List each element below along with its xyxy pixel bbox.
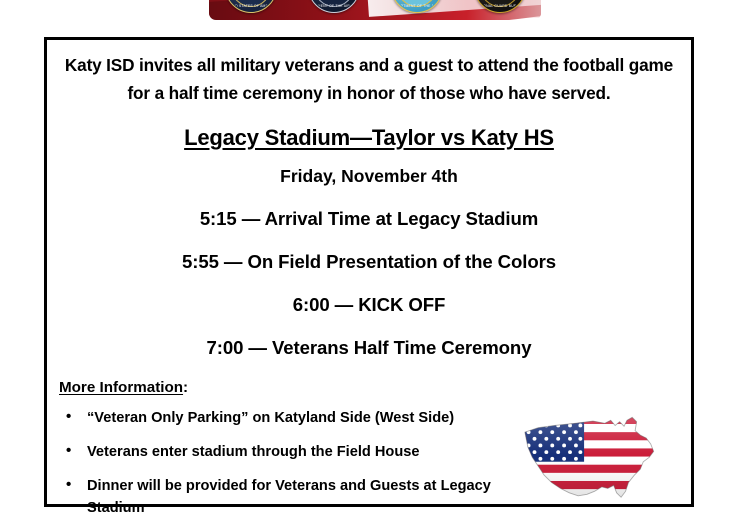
flyer-bordered-box: Katy ISD invites all military veterans a… [44,37,694,507]
navy-seal-icon: UNITED STATES OF AMERICA [225,0,277,13]
schedule-item: 7:00 — Veterans Half Time Ceremony [47,337,691,359]
list-item: Dinner will be provided for Veterans and… [87,475,507,519]
schedule-item: 6:00 — KICK OFF [47,294,691,316]
more-information-colon: : [183,379,188,396]
schedule-item: 5:55 — On Field Presentation of the Colo… [47,251,691,273]
schedule-list: 5:15 — Arrival Time at Legacy Stadium 5:… [47,208,691,359]
intro-paragraph: Katy ISD invites all military veterans a… [47,40,691,108]
list-item: “Veteran Only Parking” on Katyland Side … [87,407,507,429]
army-seal-icon: DEPARTMENT OF THE ARMY [391,0,443,13]
national-guard-seal-icon: NATIONAL GUARD BUREAU [474,0,526,13]
usa-flag-map-icon [516,402,664,520]
page-title: Legacy Stadium—Taylor vs Katy HS [47,125,691,151]
seal-row: UNITED STATES OF AMERICA DEPARTMENT OF T… [209,0,541,20]
list-item: Veterans enter stadium through the Field… [87,441,507,463]
air-force-seal-icon: DEPARTMENT OF THE AIR FORCE [308,0,360,13]
more-information-heading: More Information: [59,379,691,396]
schedule-item: 5:15 — Arrival Time at Legacy Stadium [47,208,691,230]
military-service-seals-banner: UNITED STATES OF AMERICA DEPARTMENT OF T… [209,0,541,20]
page-title-text: Legacy Stadium—Taylor vs Katy HS [184,125,554,150]
event-date: Friday, November 4th [47,166,691,187]
more-information-label: More Information [59,379,183,396]
